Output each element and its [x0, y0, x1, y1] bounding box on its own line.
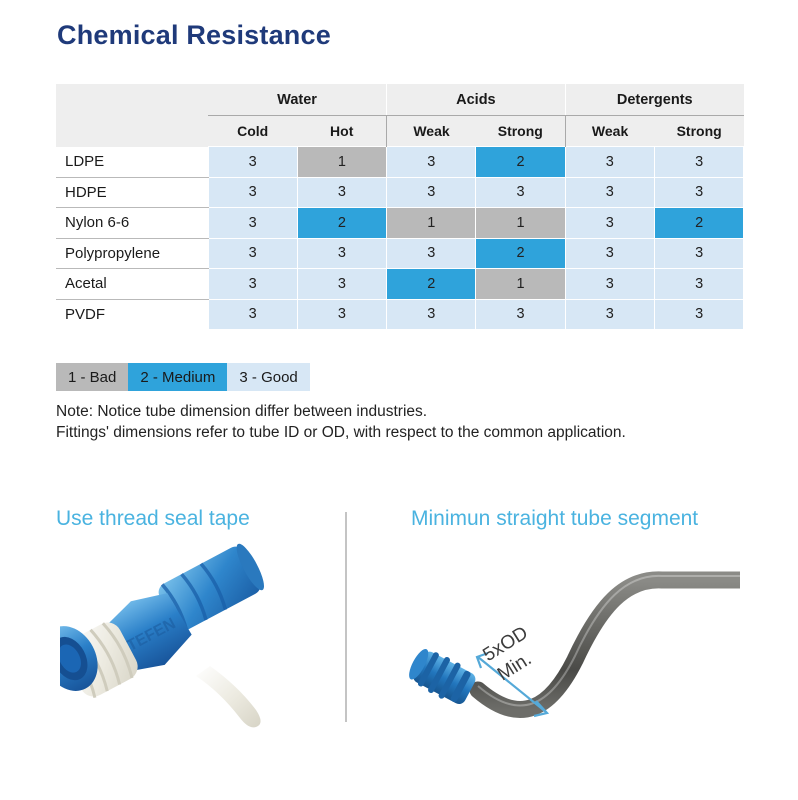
table-subcorner-cell [56, 116, 208, 147]
cell-value: 3 [654, 147, 743, 178]
table-corner-cell [56, 84, 208, 116]
table-row: Polypropylene 3 3 3 2 3 3 [56, 238, 744, 269]
cell-value: 3 [208, 269, 297, 300]
row-label: LDPE [56, 147, 208, 178]
cell-value: 3 [208, 177, 297, 208]
subheader-detergents-strong: Strong [654, 116, 743, 147]
group-header-detergents: Detergents [565, 84, 744, 116]
table-row: LDPE 3 1 3 2 3 3 [56, 147, 744, 178]
cell-value: 3 [654, 238, 743, 269]
cell-value: 3 [565, 299, 654, 330]
cell-value: 2 [654, 208, 743, 239]
cell-value: 3 [297, 299, 386, 330]
cell-value: 3 [565, 238, 654, 269]
group-header-acids: Acids [387, 84, 566, 116]
row-label: HDPE [56, 177, 208, 208]
cell-value: 3 [297, 238, 386, 269]
cell-value: 3 [208, 208, 297, 239]
cell-value: 3 [654, 177, 743, 208]
tube-connector [404, 644, 479, 709]
table-body: LDPE 3 1 3 2 3 3 HDPE 3 3 3 3 3 3 [56, 147, 744, 330]
cell-value: 3 [565, 177, 654, 208]
group-header-water: Water [208, 84, 387, 116]
cell-value: 3 [297, 269, 386, 300]
cell-value: 1 [387, 208, 476, 239]
cell-value: 2 [297, 208, 386, 239]
subheader-water-cold: Cold [208, 116, 297, 147]
cell-value: 3 [297, 177, 386, 208]
row-label: Acetal [56, 269, 208, 300]
cell-value: 3 [387, 177, 476, 208]
cell-value: 1 [476, 208, 565, 239]
cell-value: 3 [476, 177, 565, 208]
cell-value: 3 [208, 147, 297, 178]
thread-seal-tape-photo: TEFEN [60, 540, 340, 730]
table-row: PVDF 3 3 3 3 3 3 [56, 299, 744, 330]
row-label: Nylon 6-6 [56, 208, 208, 239]
tube-illustration: 5xOD Min. [400, 540, 740, 740]
cell-value: 3 [387, 147, 476, 178]
cell-value: 2 [476, 147, 565, 178]
page-title: Chemical Resistance [57, 20, 331, 51]
note-line-2: Fittings' dimensions refer to tube ID or… [56, 422, 626, 443]
subheader-acids-strong: Strong [476, 116, 565, 147]
table-group-header-row: Water Acids Detergents [56, 84, 744, 116]
chemical-resistance-table-wrap: Water Acids Detergents Cold Hot Weak Str… [56, 84, 744, 330]
loose-tape-strip [196, 666, 261, 727]
table-subheader-row: Cold Hot Weak Strong Weak Strong [56, 116, 744, 147]
cell-value: 3 [565, 147, 654, 178]
cell-value: 3 [387, 238, 476, 269]
rating-legend: 1 - Bad 2 - Medium 3 - Good [56, 363, 310, 391]
cell-value: 2 [387, 269, 476, 300]
section-heading-thread-seal-tape: Use thread seal tape [56, 507, 250, 531]
chemical-resistance-page: Chemical Resistance Water Acids Detergen… [0, 0, 798, 800]
section-heading-straight-tube: Minimun straight tube segment [411, 507, 698, 531]
cell-value: 3 [565, 208, 654, 239]
cell-value: 3 [565, 269, 654, 300]
note-line-1: Note: Notice tube dimension differ betwe… [56, 401, 626, 422]
subheader-acids-weak: Weak [387, 116, 476, 147]
legend-item-medium: 2 - Medium [128, 363, 227, 391]
fitting-illustration: TEFEN [60, 540, 340, 730]
cell-value: 1 [297, 147, 386, 178]
table-row: Acetal 3 3 2 1 3 3 [56, 269, 744, 300]
cell-value: 3 [208, 299, 297, 330]
cell-value: 3 [476, 299, 565, 330]
note-block: Note: Notice tube dimension differ betwe… [56, 401, 626, 443]
legend-item-good: 3 - Good [227, 363, 309, 391]
row-label: Polypropylene [56, 238, 208, 269]
legend-item-bad: 1 - Bad [56, 363, 128, 391]
section-divider [345, 512, 347, 722]
chemical-resistance-table: Water Acids Detergents Cold Hot Weak Str… [56, 84, 744, 330]
cell-value: 3 [387, 299, 476, 330]
table-row: HDPE 3 3 3 3 3 3 [56, 177, 744, 208]
cell-value: 3 [654, 299, 743, 330]
straight-tube-segment-photo: 5xOD Min. [400, 540, 740, 740]
subheader-detergents-weak: Weak [565, 116, 654, 147]
cell-value: 2 [476, 238, 565, 269]
subheader-water-hot: Hot [297, 116, 386, 147]
cell-value: 1 [476, 269, 565, 300]
cell-value: 3 [654, 269, 743, 300]
dimension-label: 5xOD Min. [479, 623, 544, 687]
table-row: Nylon 6-6 3 2 1 1 3 2 [56, 208, 744, 239]
row-label: PVDF [56, 299, 208, 330]
cell-value: 3 [208, 238, 297, 269]
